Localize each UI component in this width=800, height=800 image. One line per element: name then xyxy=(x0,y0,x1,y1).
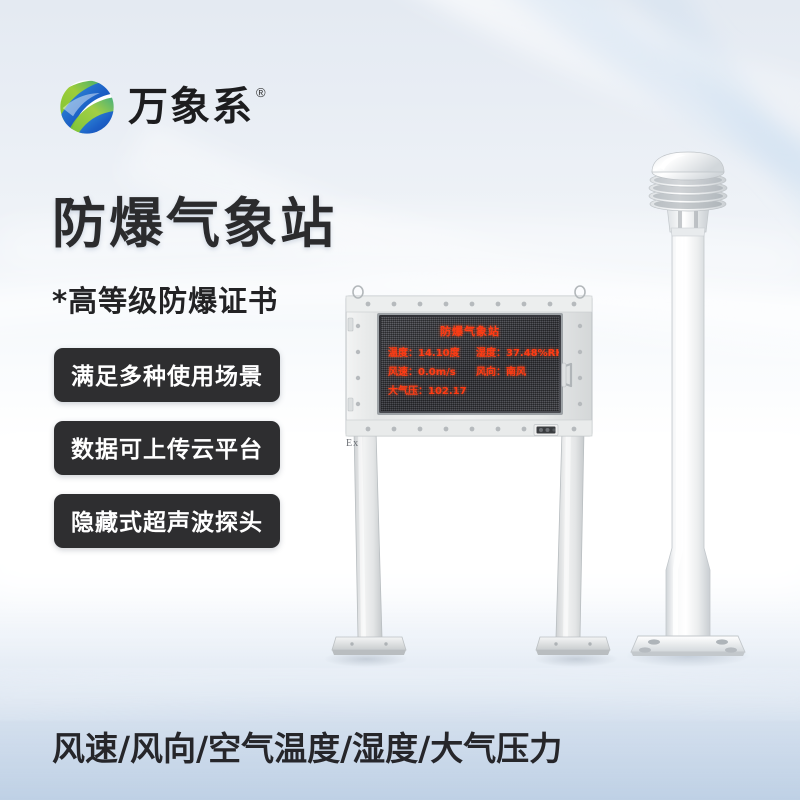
led-reading-wind-direction: 风向：南风 xyxy=(476,363,559,378)
led-reading-separator: ： xyxy=(408,348,418,359)
led-reading-separator: ： xyxy=(496,367,506,378)
led-reading-wind-speed: 风速：0.0m/s xyxy=(388,363,476,378)
led-reading-separator: ： xyxy=(408,367,418,378)
brand-logo: 万象系 ® xyxy=(58,78,266,136)
led-reading-label: 湿度 xyxy=(476,348,496,359)
sensor-pole-product xyxy=(612,150,764,670)
led-reading-label: 风向 xyxy=(476,367,496,378)
registered-trademark-icon: ® xyxy=(256,85,266,100)
base-flange-icon xyxy=(631,636,745,656)
cabinet-leg-left xyxy=(354,430,382,638)
led-reading-pressure: 大气压：102.17 xyxy=(388,382,559,397)
cabinet-foot-right xyxy=(536,637,610,655)
display-cabinet-product: 防爆气象站 温度：14.10度 湿度：37.48%RH 风速：0.0m/s 风向… xyxy=(318,278,618,670)
led-readings-grid: 温度：14.10度 湿度：37.48%RH 风速：0.0m/s 风向：南风 大气… xyxy=(388,344,552,397)
cable-gland-icon xyxy=(534,425,558,436)
brand-name: 万象系 xyxy=(128,87,254,127)
led-reading-humidity: 湿度：37.48%RH xyxy=(476,344,559,359)
page-title: 防爆气象站 xyxy=(52,196,337,253)
led-reading-value: 37.48%RH xyxy=(506,348,559,359)
led-display-screen: 防爆气象站 温度：14.10度 湿度：37.48%RH 风速：0.0m/s 风向… xyxy=(381,317,559,411)
feature-pill: 满足多种使用场景 xyxy=(54,348,280,402)
led-reading-separator: ： xyxy=(418,386,428,397)
sensor-mast xyxy=(666,228,710,642)
cabinet-foot-left xyxy=(332,637,406,655)
led-reading-separator: ： xyxy=(496,348,506,359)
feature-tagline: 风速/风向/空气温度/湿度/大气压力 xyxy=(52,722,562,770)
led-display-title: 防爆气象站 xyxy=(388,323,552,339)
page-subtitle: *高等级防爆证书 xyxy=(52,278,278,320)
feature-pill: 数据可上传云平台 xyxy=(54,421,280,475)
led-reading-label: 风速 xyxy=(388,367,408,378)
led-reading-value: 14.10度 xyxy=(418,348,460,359)
ex-marking-label: Ex xyxy=(346,438,359,449)
cabinet-leg-right xyxy=(556,430,584,638)
led-reading-label: 温度 xyxy=(388,348,408,359)
feature-pill-list: 满足多种使用场景 数据可上传云平台 隐藏式超声波探头 xyxy=(54,348,280,548)
ultrasonic-weather-sensor-icon xyxy=(649,152,727,236)
feature-pill: 隐藏式超声波探头 xyxy=(54,494,280,548)
led-reading-value: 102.17 xyxy=(428,386,467,397)
led-reading-value: 南风 xyxy=(506,367,526,378)
led-reading-temperature: 温度：14.10度 xyxy=(388,344,476,359)
product-poster: 万象系 ® 防爆气象站 *高等级防爆证书 满足多种使用场景 数据可上传云平台 隐… xyxy=(0,0,800,800)
globe-sphere-icon xyxy=(58,78,116,136)
led-reading-label: 大气压 xyxy=(388,386,418,397)
led-reading-value: 0.0m/s xyxy=(418,367,456,378)
